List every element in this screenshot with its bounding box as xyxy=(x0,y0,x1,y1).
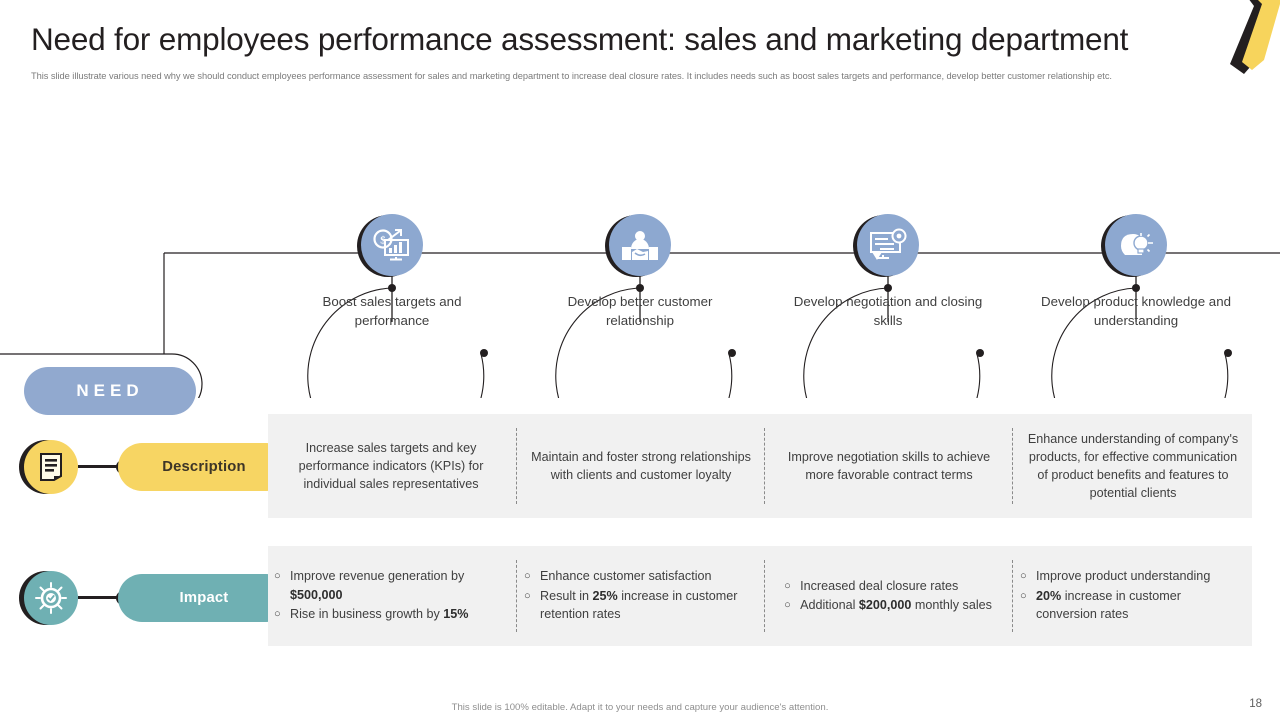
description-cell-2: Maintain and foster strong relationships… xyxy=(518,414,764,518)
impact-bullet-item: ○Rise in business growth by 15% xyxy=(290,605,506,624)
impact-bullet-item: ○Result in 25% increase in customer rete… xyxy=(540,587,756,624)
description-badge-group[interactable]: Description xyxy=(24,440,284,496)
impact-divider-2 xyxy=(764,560,765,632)
head-lightbulb-idea-icon xyxy=(1105,214,1167,276)
slide-subtitle: This slide illustrate various need why w… xyxy=(31,70,1231,83)
impact-cell-1: ○Improve revenue generation by $500,000○… xyxy=(268,546,514,646)
need-node-3-label: Develop negotiation and closing skills xyxy=(788,292,988,331)
impact-badge-group[interactable]: Impact xyxy=(24,571,284,627)
impact-row-band: ○Improve revenue generation by $500,000○… xyxy=(268,546,1252,646)
description-cell-4: Enhance understanding of company's produ… xyxy=(1014,414,1252,518)
sales-growth-chart-icon: $ xyxy=(361,214,423,276)
corner-chevron-decoration xyxy=(1184,0,1280,76)
bullet-marker-icon: ○ xyxy=(274,605,281,624)
bullet-marker-icon: ○ xyxy=(784,577,791,596)
impact-bullets-2: ○Enhance customer satisfaction○Result in… xyxy=(518,567,764,625)
bullet-marker-icon: ○ xyxy=(524,587,531,606)
impact-cell-2: ○Enhance customer satisfaction○Result in… xyxy=(518,546,764,646)
description-badge[interactable]: Description xyxy=(118,443,290,491)
footer-note: This slide is 100% editable. Adapt it to… xyxy=(0,702,1280,713)
bullet-marker-icon: ○ xyxy=(1020,567,1027,586)
description-badge-label: Description xyxy=(162,459,246,475)
impact-bullet-item: ○Improve revenue generation by $500,000 xyxy=(290,567,506,604)
description-cell-3: Improve negotiation skills to achieve mo… xyxy=(766,414,1012,518)
page-number: 18 xyxy=(1249,698,1262,710)
need-node-4-label: Develop product knowledge and understand… xyxy=(1036,292,1236,331)
negotiation-settings-icon xyxy=(857,214,919,276)
description-cell-3-text: Improve negotiation skills to achieve mo… xyxy=(766,448,1012,484)
impact-bullet-item: ○Enhance customer satisfaction xyxy=(540,567,756,586)
bullet-marker-icon: ○ xyxy=(1020,587,1027,606)
impact-bullet-item: ○20% increase in customer conversion rat… xyxy=(1036,587,1244,624)
customer-handshake-icon xyxy=(609,214,671,276)
description-divider-3 xyxy=(1012,428,1013,504)
bullet-marker-icon: ○ xyxy=(784,596,791,615)
impact-bullets-3: ○Increased deal closure rates○Additional… xyxy=(778,577,1000,616)
need-node-2-label: Develop better customer relationship xyxy=(540,292,740,331)
description-cell-2-text: Maintain and foster strong relationships… xyxy=(518,448,764,484)
impact-bullet-item: ○Additional $200,000 monthly sales xyxy=(800,596,992,615)
impact-divider-3 xyxy=(1012,560,1013,632)
bullet-marker-icon: ○ xyxy=(274,567,281,586)
impact-divider-1 xyxy=(516,560,517,632)
document-list-icon xyxy=(24,440,78,494)
page-title: Need for employees performance assessmen… xyxy=(31,20,1191,58)
description-divider-2 xyxy=(764,428,765,504)
impact-bullet-item: ○Improve product understanding xyxy=(1036,567,1244,586)
need-badge-label: NEED xyxy=(76,381,143,401)
impact-bullets-1: ○Improve revenue generation by $500,000○… xyxy=(268,567,514,625)
impact-cell-4: ○Improve product understanding○20% incre… xyxy=(1014,546,1252,646)
impact-bullets-4: ○Improve product understanding○20% incre… xyxy=(1014,567,1252,625)
slide-header: Need for employees performance assessmen… xyxy=(0,0,1280,108)
needs-diagram: NEED $ Boost sales targets and performa xyxy=(0,108,1280,398)
description-cell-4-text: Enhance understanding of company's produ… xyxy=(1014,430,1252,502)
description-cell-1: Increase sales targets and key performan… xyxy=(268,414,514,518)
description-cell-1-text: Increase sales targets and key performan… xyxy=(268,439,514,493)
impact-bullet-item: ○Increased deal closure rates xyxy=(800,577,992,596)
bullet-marker-icon: ○ xyxy=(524,567,531,586)
description-divider-1 xyxy=(516,428,517,504)
need-badge[interactable]: NEED xyxy=(24,367,196,415)
description-row-band: Increase sales targets and key performan… xyxy=(268,414,1252,518)
impact-badge[interactable]: Impact xyxy=(118,574,290,622)
need-node-1-label: Boost sales targets and performance xyxy=(292,292,492,331)
impact-badge-label: Impact xyxy=(180,590,229,606)
target-gear-icon xyxy=(24,571,78,625)
impact-cell-3: ○Increased deal closure rates○Additional… xyxy=(766,546,1012,646)
